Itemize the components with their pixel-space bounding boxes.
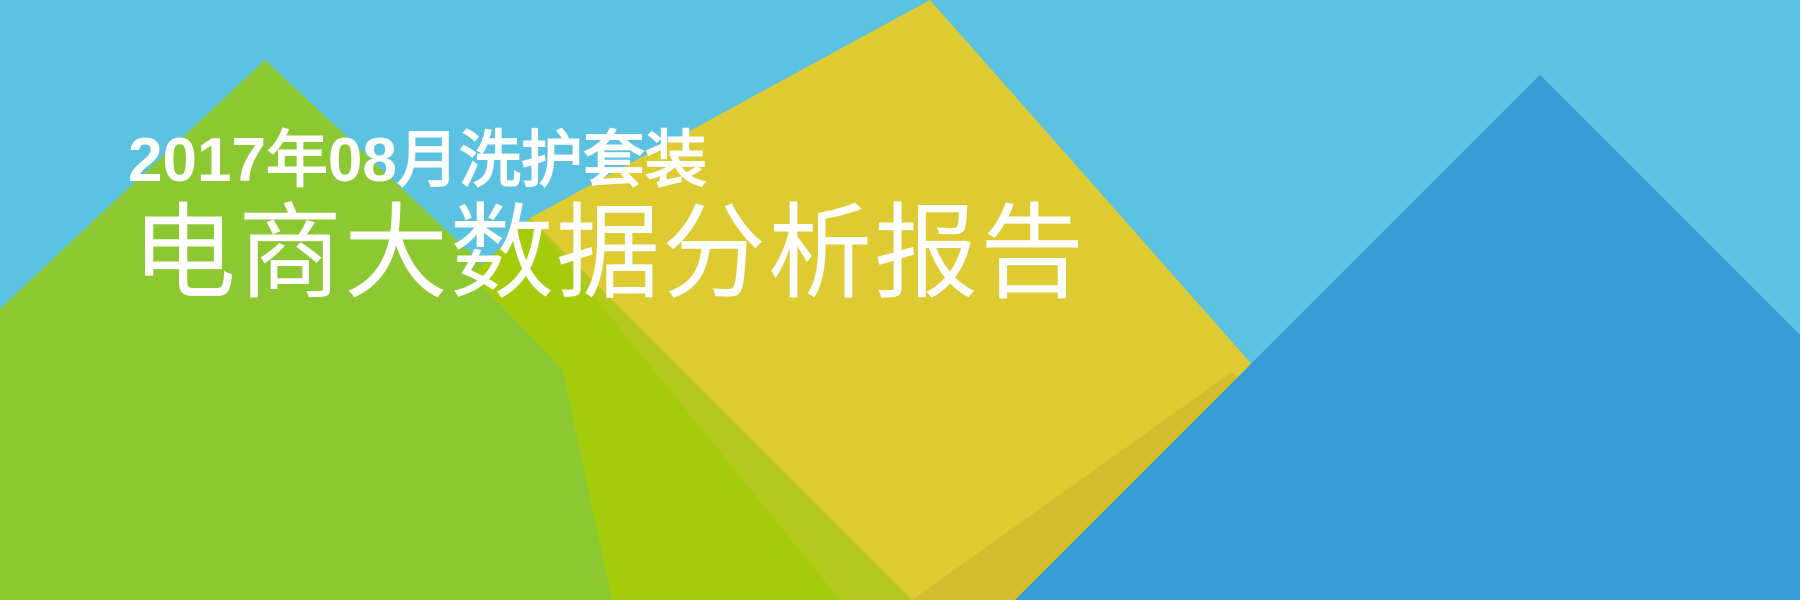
mountain-graphic [0,0,1800,600]
report-cover-banner: 2017年08月洗护套装 电商大数据分析报告 [0,0,1800,600]
